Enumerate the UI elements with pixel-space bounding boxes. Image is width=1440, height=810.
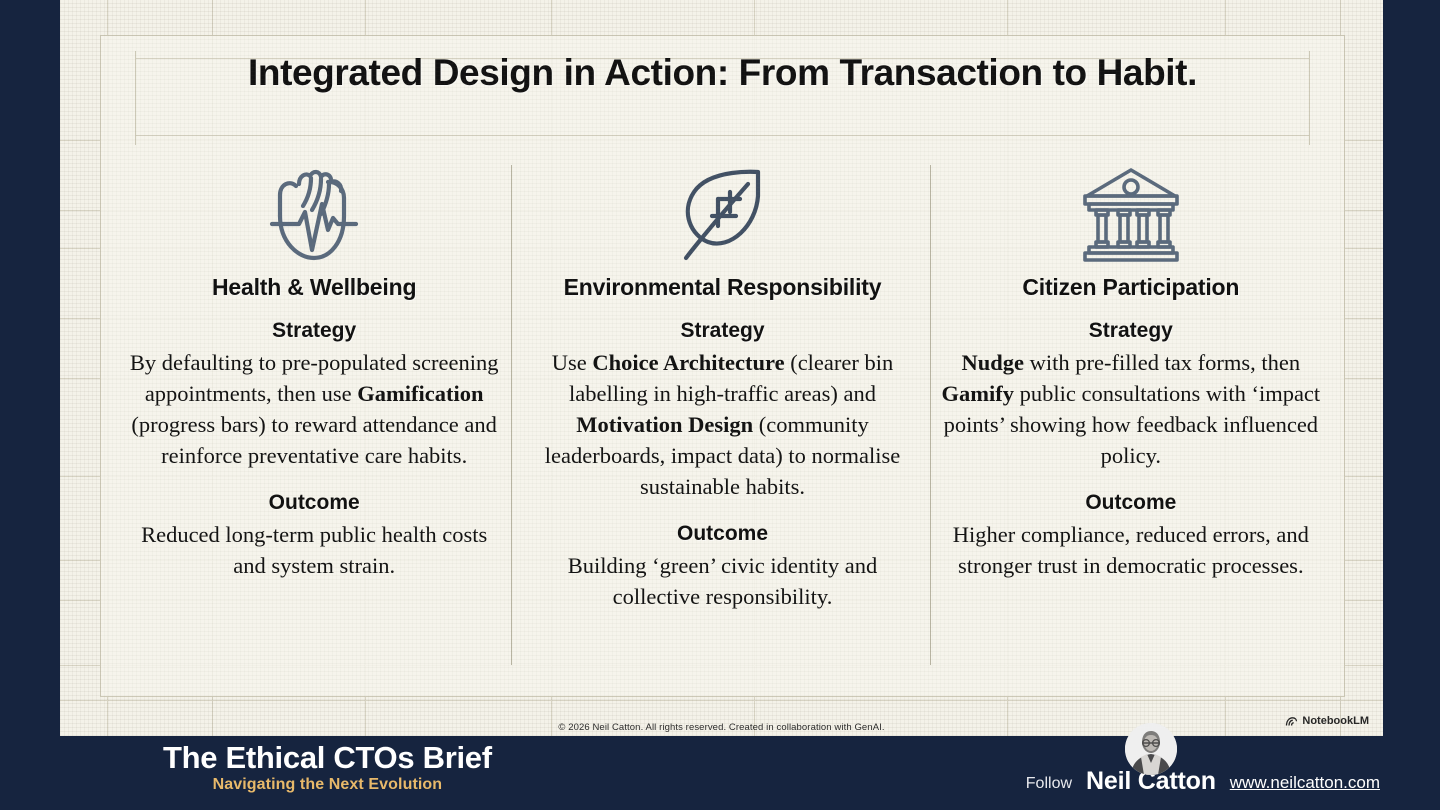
strategy-text: Nudge with pre-filled tax forms, then Ga… (941, 347, 1321, 471)
bottom-bar: The Ethical CTOs Brief Navigating the Ne… (0, 736, 1440, 810)
website-link[interactable]: www.neilcatton.com (1230, 773, 1380, 796)
outcome-label: Outcome (941, 491, 1321, 515)
column-title: Citizen Participation (941, 274, 1321, 301)
column-citizen-participation: Citizen Participation Strategy Nudge wit… (927, 160, 1335, 680)
slide-root: Integrated Design in Action: From Transa… (0, 0, 1440, 810)
strategy-text: Use Choice Architecture (clearer bin lab… (532, 347, 912, 502)
column-title: Health & Wellbeing (124, 274, 504, 301)
columns-container: Health & Wellbeing Strategy By defaultin… (110, 160, 1335, 680)
outcome-text: Building ‘green’ civic identity and coll… (532, 550, 912, 612)
strategy-text: By defaulting to pre-populated screening… (124, 347, 504, 471)
anatomical-heart-pulse-icon (124, 160, 504, 268)
column-health-wellbeing: Health & Wellbeing Strategy By defaultin… (110, 160, 518, 680)
follow-group: Follow Neil Catton www.neilc (1026, 767, 1380, 796)
avatar-portrait-icon (1125, 723, 1177, 775)
outcome-label: Outcome (532, 522, 912, 546)
brand-title: The Ethical CTOs Brief (163, 740, 492, 776)
outcome-text: Reduced long-term public health costs an… (124, 519, 504, 581)
column-environmental-responsibility: Environmental Responsibility Strategy Us… (518, 160, 926, 680)
grid-line-horizontal (60, 700, 1383, 701)
classical-building-icon (941, 160, 1321, 268)
brand-subtitle: Navigating the Next Evolution (163, 776, 492, 794)
column-title: Environmental Responsibility (532, 274, 912, 301)
outcome-text: Higher compliance, reduced errors, and s… (941, 519, 1321, 581)
page-title: Integrated Design in Action: From Transa… (100, 52, 1345, 94)
follow-label: Follow (1026, 775, 1072, 796)
avatar (1125, 723, 1177, 775)
brand-block: The Ethical CTOs Brief Navigating the Ne… (163, 740, 492, 794)
leaf-icon (532, 160, 912, 268)
outcome-label: Outcome (124, 491, 504, 515)
person-block: Neil Catton (1086, 767, 1216, 796)
strategy-label: Strategy (124, 319, 504, 343)
strategy-label: Strategy (941, 319, 1321, 343)
strategy-label: Strategy (532, 319, 912, 343)
